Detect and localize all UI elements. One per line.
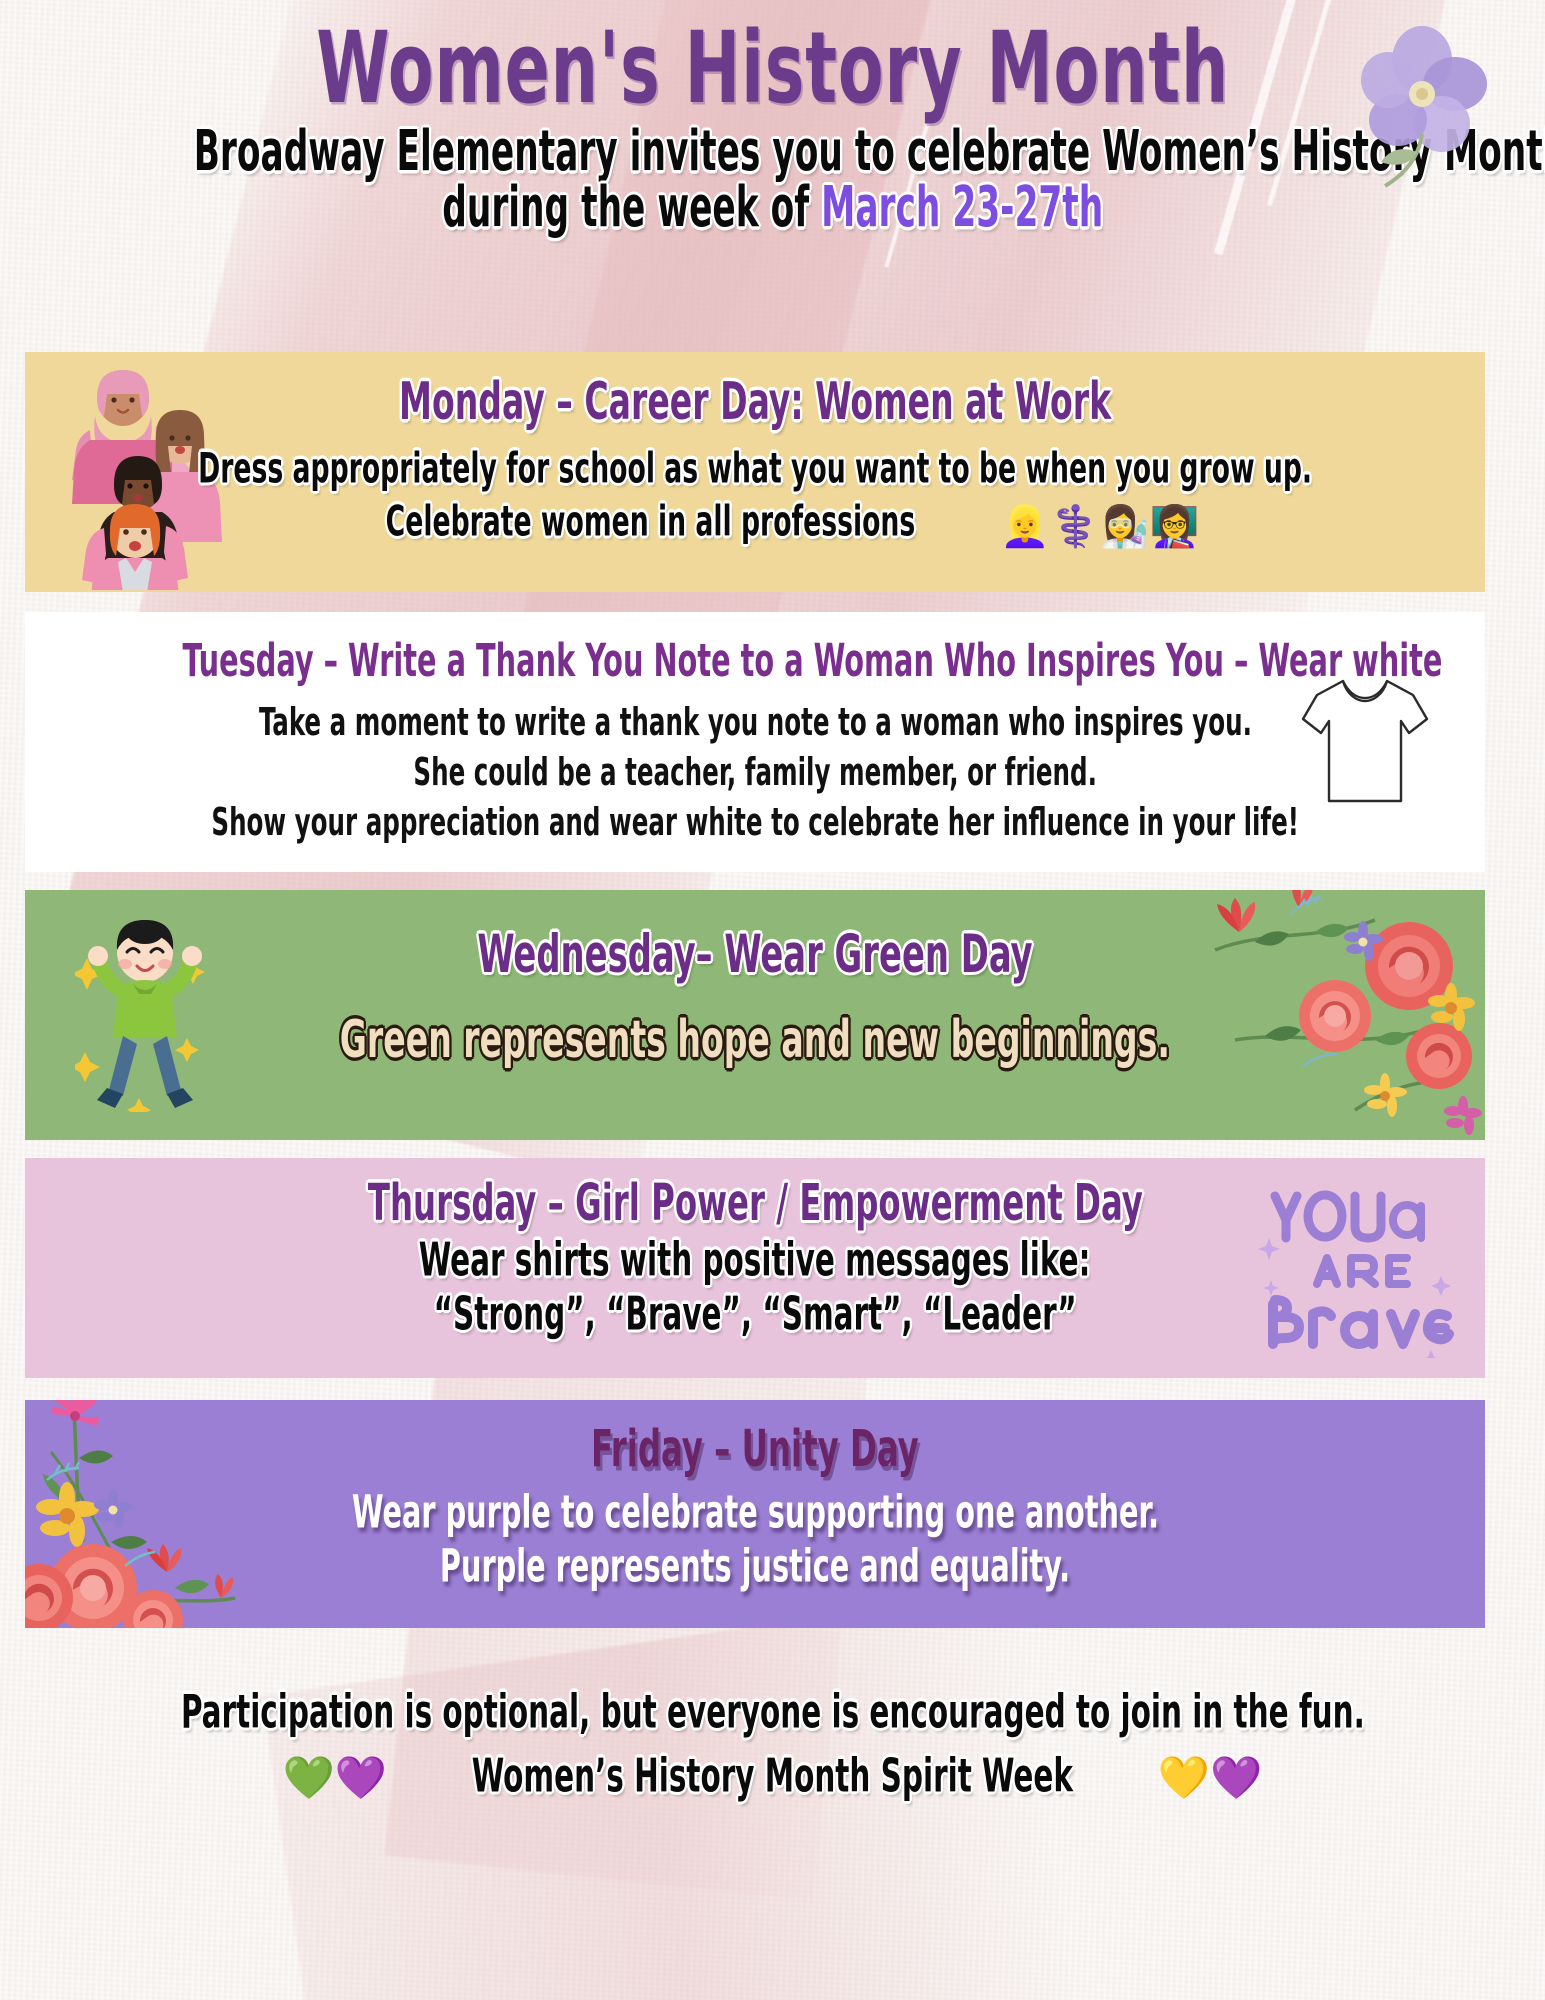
subtitle-line-2-prefix: during the week of <box>442 175 821 240</box>
flyer-footer: Participation is optional, but everyone … <box>0 1680 1545 1810</box>
friday-heading: Friday – Unity Day <box>25 1400 1485 1475</box>
page-title: Women's History Month <box>0 22 1545 114</box>
event-date: March 23-27th <box>821 175 1103 240</box>
monday-heading: Monday – Career Day: Women at Work <box>25 352 1485 428</box>
footer-line-2: Women’s History Month Spirit Week <box>472 1741 1073 1811</box>
wednesday-heading: Wednesday– Wear Green Day <box>25 890 1485 982</box>
purple-heart-icon-left: 💜 <box>335 1754 387 1801</box>
footer-line-1: Participation is optional, but everyone … <box>181 1677 1365 1747</box>
thursday-heading: Thursday – Girl Power / Empowerment Day <box>25 1158 1485 1229</box>
day-banner-friday: Friday – Unity Day Wear purple to celebr… <box>25 1400 1485 1628</box>
tuesday-body-line-1: Take a moment to write a thank you note … <box>259 696 1252 751</box>
friday-body-line-2: Purple represents justice and equality. <box>440 1536 1070 1595</box>
yellow-heart-icon: 💛 <box>1158 1754 1210 1801</box>
page-title-text: Women's History Month <box>316 14 1229 123</box>
friday-body: Wear purple to celebrate supporting one … <box>25 1475 1485 1593</box>
thursday-body-line-2: “Strong”, “Brave”, “Smart”, “Leader” <box>434 1284 1077 1343</box>
monday-body: Dress appropriately for school as what y… <box>25 428 1485 553</box>
wednesday-body: Green represents hope and new beginnings… <box>25 982 1485 1066</box>
purple-heart-icon-right: 💜 <box>1210 1754 1262 1801</box>
day-banner-thursday: Thursday – Girl Power / Empowerment Day … <box>25 1158 1485 1378</box>
profession-emojis: 👱‍♀️⚕️👩‍🔬👩‍🏫 <box>1000 505 1199 549</box>
flyer-header: Women's History Month Broadway Elementar… <box>0 0 1545 236</box>
day-banner-wednesday: Wednesday– Wear Green Day Green represen… <box>25 890 1485 1140</box>
monday-body-line-1: Dress appropriately for school as what y… <box>198 439 1312 496</box>
wednesday-body-line-1: Green represents hope and new beginnings… <box>340 1009 1170 1069</box>
thursday-body-line-1: Wear shirts with positive messages like: <box>419 1230 1091 1289</box>
tuesday-body-line-2: She could be a teacher, family member, o… <box>413 746 1097 801</box>
flyer-page: Women's History Month Broadway Elementar… <box>0 0 1545 2000</box>
monday-body-line-2: Celebrate women in all professions <box>385 492 915 549</box>
subtitle: Broadway Elementary invites you to celeb… <box>0 124 1545 236</box>
day-banner-monday: Monday – Career Day: Women at Work Dress… <box>25 352 1485 592</box>
tuesday-body-line-3: Show your appreciation and wear white to… <box>211 796 1299 851</box>
friday-body-line-1: Wear purple to celebrate supporting one … <box>351 1482 1158 1541</box>
tuesday-heading: Tuesday – Write a Thank You Note to a Wo… <box>25 612 1485 684</box>
green-heart-icon: 💚 <box>283 1754 335 1801</box>
day-banner-tuesday: Tuesday – Write a Thank You Note to a Wo… <box>25 612 1485 872</box>
tuesday-body: Take a moment to write a thank you note … <box>25 684 1485 848</box>
thursday-body: Wear shirts with positive messages like:… <box>25 1229 1485 1341</box>
